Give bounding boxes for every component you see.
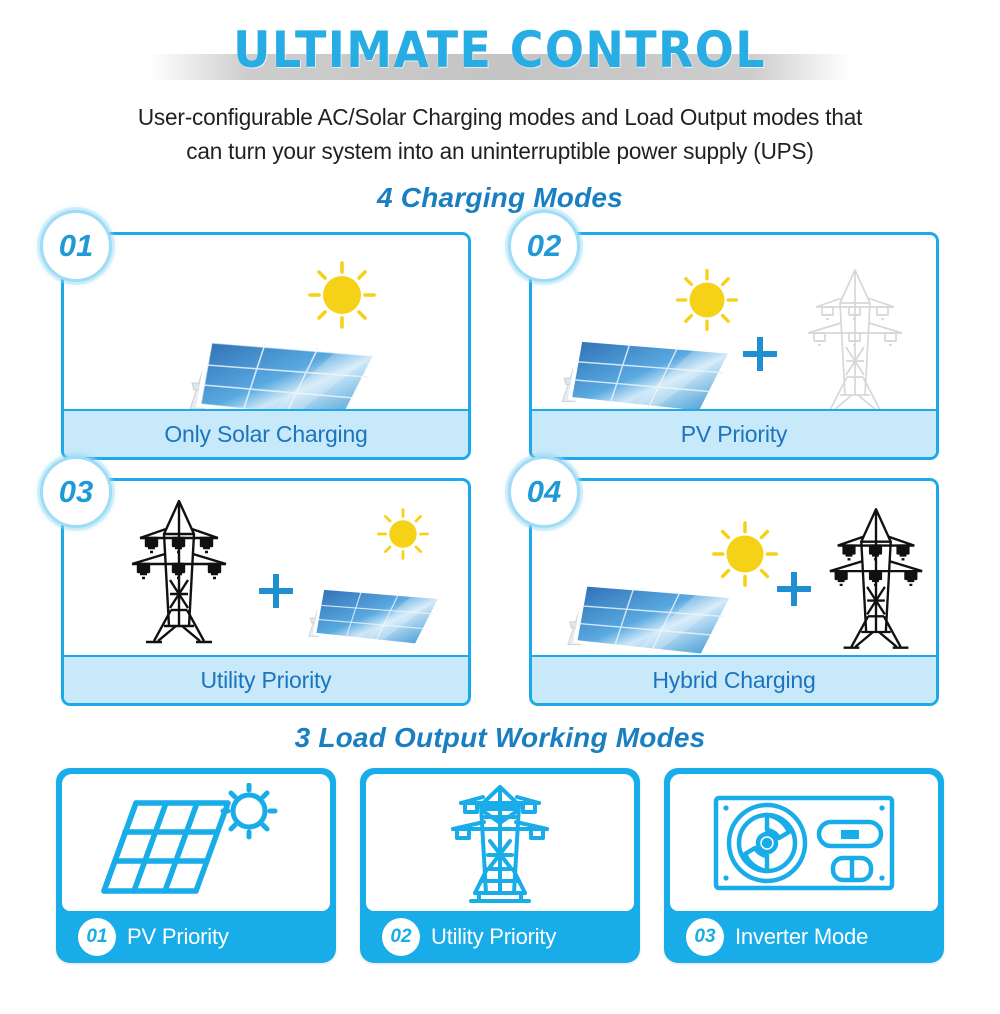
transmission-tower-icon bbox=[800, 265, 910, 409]
solar-panel-icon bbox=[296, 565, 444, 655]
transmission-tower-line-icon bbox=[444, 781, 556, 905]
page-header: ULTIMATE CONTROL User-configurable AC/So… bbox=[0, 14, 1000, 214]
load-card-panel bbox=[62, 774, 330, 911]
load-card-number-badge: 01 bbox=[78, 918, 116, 956]
sun-icon bbox=[304, 257, 380, 333]
charging-mode-card-02[interactable]: 02 bbox=[529, 232, 939, 460]
charging-mode-card-03[interactable]: 03 bbox=[61, 478, 471, 706]
card-number-badge: 01 bbox=[40, 210, 112, 282]
page-subtitle: User-configurable AC/Solar Charging mode… bbox=[87, 100, 913, 168]
load-mode-card-03[interactable]: 03 Inverter Mode bbox=[664, 768, 944, 963]
plus-icon bbox=[254, 569, 298, 613]
sun-icon bbox=[374, 505, 432, 563]
load-card-label: PV Priority bbox=[127, 924, 229, 950]
load-section-heading: 3 Load Output Working Modes bbox=[0, 722, 1000, 754]
load-mode-card-01[interactable]: 01 PV Priority bbox=[56, 768, 336, 963]
card-artwork bbox=[64, 235, 468, 409]
transmission-tower-icon bbox=[124, 495, 234, 647]
card-artwork bbox=[532, 235, 936, 409]
load-card-label: Utility Priority bbox=[431, 924, 556, 950]
card-label: Hybrid Charging bbox=[532, 655, 936, 703]
transmission-tower-icon bbox=[822, 503, 930, 653]
charging-section-heading: 4 Charging Modes bbox=[0, 182, 1000, 214]
card-label: Utility Priority bbox=[64, 655, 468, 703]
load-card-number-badge: 02 bbox=[382, 918, 420, 956]
sun-icon bbox=[672, 265, 742, 335]
subtitle-line-2: can turn your system into an uninterrupt… bbox=[87, 134, 913, 168]
card-artwork bbox=[64, 481, 468, 655]
load-modes-grid: 01 PV Priority bbox=[56, 768, 944, 963]
load-section-header: 3 Load Output Working Modes bbox=[0, 722, 1000, 754]
load-card-panel bbox=[670, 774, 938, 911]
inverter-box-line-icon bbox=[711, 788, 897, 898]
load-card-footer: 01 PV Priority bbox=[62, 911, 330, 963]
card-label: Only Solar Charging bbox=[64, 409, 468, 457]
sun-icon bbox=[708, 517, 782, 591]
subtitle-line-1: User-configurable AC/Solar Charging mode… bbox=[87, 100, 913, 134]
charging-mode-card-04[interactable]: 04 bbox=[529, 478, 939, 706]
card-number-badge: 03 bbox=[40, 456, 112, 528]
charging-mode-card-01[interactable]: 01 bbox=[61, 232, 471, 460]
page-title: ULTIMATE CONTROL bbox=[234, 21, 767, 79]
load-card-label: Inverter Mode bbox=[735, 924, 868, 950]
load-mode-card-02[interactable]: 02 Utility Priority bbox=[360, 768, 640, 963]
load-card-number-badge: 03 bbox=[686, 918, 724, 956]
solar-panel-line-icon bbox=[96, 783, 296, 903]
title-wrapper: ULTIMATE CONTROL bbox=[0, 14, 1000, 86]
load-card-panel bbox=[366, 774, 634, 911]
charging-modes-grid: 01 bbox=[61, 232, 939, 706]
load-card-footer: 03 Inverter Mode bbox=[670, 911, 938, 963]
card-artwork bbox=[532, 481, 936, 655]
card-number-badge: 04 bbox=[508, 456, 580, 528]
card-number-badge: 02 bbox=[508, 210, 580, 282]
load-card-footer: 02 Utility Priority bbox=[366, 911, 634, 963]
plus-icon bbox=[738, 332, 782, 376]
card-label: PV Priority bbox=[532, 409, 936, 457]
plus-icon bbox=[772, 567, 816, 611]
